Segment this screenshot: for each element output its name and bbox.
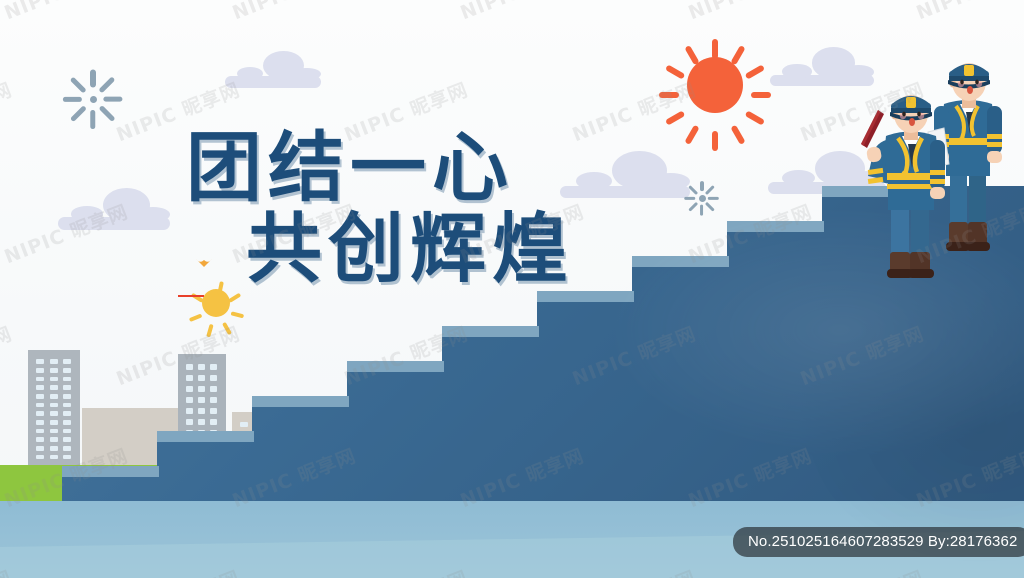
staircase-tread xyxy=(62,466,159,477)
officer-front-left xyxy=(861,95,945,278)
poster-canvas: 团结一心 共创辉煌 xyxy=(0,0,1024,578)
staircase-tread xyxy=(252,396,349,407)
staircase-tread xyxy=(347,361,444,372)
officers-illustration xyxy=(850,52,1024,282)
staircase-tread xyxy=(157,431,254,442)
title-line-2: 共创辉煌 xyxy=(0,209,700,290)
page-title: 团结一心 共创辉煌 xyxy=(0,128,700,289)
staircase-tread xyxy=(442,326,539,337)
stock-id-badge: No.251025164607283529 By:28176362 xyxy=(733,527,1024,557)
staircase-tread xyxy=(727,221,824,232)
staircase-tread xyxy=(537,291,634,302)
title-line-1: 团结一心 xyxy=(0,128,700,209)
